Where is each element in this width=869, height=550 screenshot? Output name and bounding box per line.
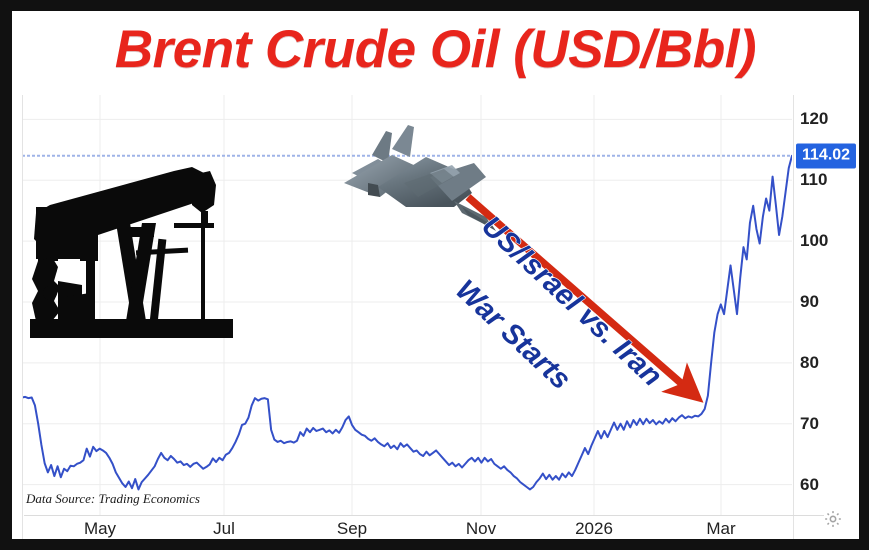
y-axis-tick: 60 — [800, 475, 819, 495]
x-axis-tick: May — [84, 519, 116, 539]
y-axis-tick: 70 — [800, 414, 819, 434]
x-axis-rule — [24, 515, 824, 516]
y-axis: 12011010090807060114.02 — [794, 95, 856, 515]
x-axis-tick: Mar — [706, 519, 735, 539]
source-note: Data Source: Trading Economics — [26, 491, 200, 507]
fighter-jet-image — [334, 121, 504, 236]
y-axis-tick: 120 — [800, 109, 828, 129]
price-badge[interactable]: 114.02 — [796, 143, 856, 168]
plot-left-border — [22, 95, 23, 539]
image-frame: Brent Crude Oil (USD/Bbl) — [0, 0, 869, 550]
oil-pumpjack-silhouette — [24, 161, 239, 346]
y-axis-tick: 80 — [800, 353, 819, 373]
gear-icon[interactable] — [823, 509, 843, 529]
y-axis-tick: 100 — [800, 231, 828, 251]
y-axis-tick: 90 — [800, 292, 819, 312]
x-axis-tick: 2026 — [575, 519, 613, 539]
x-axis-tick: Sep — [337, 519, 367, 539]
chart-canvas: Brent Crude Oil (USD/Bbl) — [12, 11, 859, 539]
y-axis-tick: 110 — [800, 170, 827, 190]
x-axis-tick: Jul — [213, 519, 235, 539]
page-title: Brent Crude Oil (USD/Bbl) — [12, 23, 859, 76]
x-axis-tick: Nov — [466, 519, 496, 539]
x-axis: MayJulSepNov2026Mar — [22, 517, 792, 539]
